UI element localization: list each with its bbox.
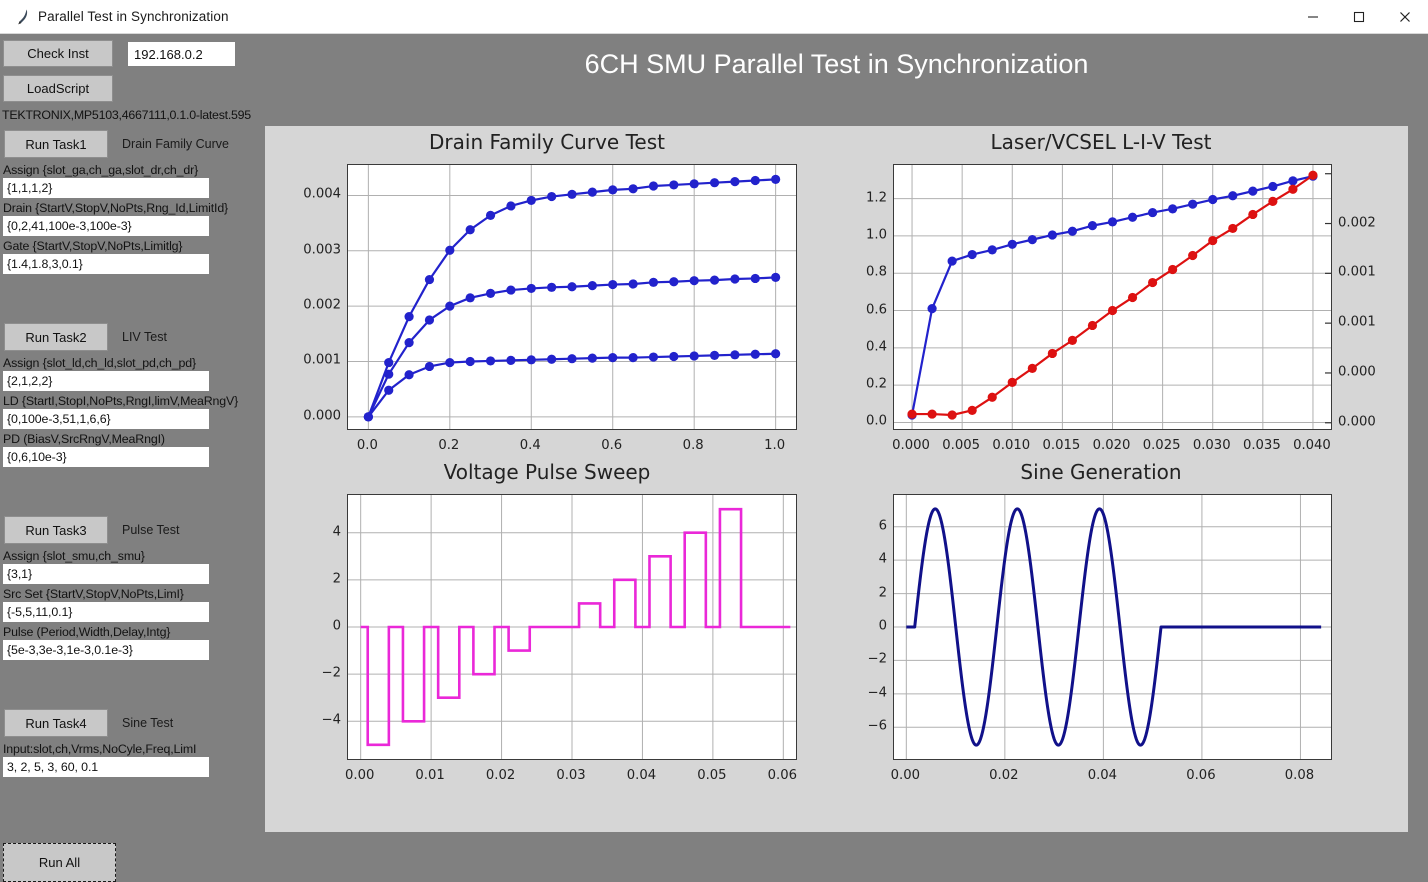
x-tick-label: 0.06 <box>768 768 797 783</box>
task3-assign-label: Assign {slot_smu,ch_smu} <box>0 549 265 564</box>
app-body: 6CH SMU Parallel Test in Synchronization… <box>0 34 1428 863</box>
y-tick-label: 0.6 <box>866 302 887 317</box>
task4-input-label: Input:slot,ch,Vrms,NoCyle,Freq,LimI <box>0 742 265 757</box>
x-tick-label: 0.04 <box>627 768 656 783</box>
ip-address-input[interactable]: 192.168.0.2 <box>128 42 235 66</box>
y-tick-label: 0 <box>879 619 887 634</box>
y-axis-ticks-sine: −6−4−20246 <box>840 494 887 760</box>
task1-assign-input[interactable]: {1,1,1,2} <box>3 178 209 198</box>
x-tick-label: 0.03 <box>556 768 585 783</box>
task-4-label: Sine Test <box>122 716 173 730</box>
y-tick-label-right: 0.000 <box>1338 364 1376 379</box>
x-tick-label: 0.000 <box>892 438 930 453</box>
y-axis-ticks-drain: 0.0000.0010.0020.0030.004 <box>277 164 341 430</box>
x-axis-ticks-liv: 0.0000.0050.0100.0150.0200.0250.0300.035… <box>893 436 1332 458</box>
run-task1-button[interactable]: Run Task1 <box>4 130 108 158</box>
x-tick-label: 0.4 <box>520 438 541 453</box>
task3-pulse-input[interactable]: {5e-3,3e-3,1e-3,0.1e-3} <box>3 640 209 660</box>
chart-title-liv: Laser/VCSEL L-I-V Test <box>802 130 1400 154</box>
task-2-label: LIV Test <box>122 330 167 344</box>
task2-pd-label: PD (BiasV,SrcRngV,MeaRngI) <box>0 432 265 447</box>
plot-panel: Drain Family Curve Test 0.0000.0010.0020… <box>265 126 1408 832</box>
run-task3-button[interactable]: Run Task3 <box>4 516 108 544</box>
y-tick-label: −2 <box>322 666 341 681</box>
feather-icon <box>8 8 36 26</box>
y-tick-label: 0.003 <box>303 242 341 257</box>
y-tick-label: −6 <box>868 719 887 734</box>
x-tick-label: 0.00 <box>345 768 374 783</box>
chart-voltage-pulse-sweep: Voltage Pulse Sweep −4−2024 0.000.010.02… <box>277 456 817 816</box>
task-3-group: Run Task3 Pulse Test Assign {slot_smu,ch… <box>0 516 265 660</box>
y-tick-label: 0.000 <box>303 408 341 423</box>
chart-laser-vcsel-liv: Laser/VCSEL L-I-V Test 0.00.20.40.60.81.… <box>840 126 1400 478</box>
x-tick-label: 0.8 <box>683 438 704 453</box>
y-tick-label: 1.2 <box>866 190 887 205</box>
task-4-group: Run Task4 Sine Test Input:slot,ch,Vrms,N… <box>0 709 265 777</box>
task1-drain-input[interactable]: {0,2,41,100e-3,100e-3} <box>3 216 209 236</box>
plot-svg <box>894 165 1331 429</box>
y-tick-label: 0.8 <box>866 265 887 280</box>
y-axis-ticks-pulse: −4−2024 <box>277 494 341 760</box>
x-axis-ticks-drain: 0.00.20.40.60.81.0 <box>347 436 797 458</box>
y-axis-ticks-liv: 0.00.20.40.60.81.01.2 <box>840 164 887 430</box>
plot-svg <box>348 495 796 759</box>
run-task4-button[interactable]: Run Task4 <box>4 709 108 737</box>
x-tick-label: 0.00 <box>891 768 920 783</box>
y-tick-label: 4 <box>333 524 341 539</box>
x-tick-label: 0.020 <box>1093 438 1131 453</box>
x-tick-label: 0.015 <box>1042 438 1080 453</box>
chart-title-drain: Drain Family Curve Test <box>277 130 817 154</box>
task1-gate-label: Gate {StartV,StopV,NoPts,Limitlg} <box>0 239 265 254</box>
task-1-group: Run Task1 Drain Family Curve Assign {slo… <box>0 130 265 274</box>
window-controls <box>1290 0 1428 34</box>
plot-area-drain <box>347 164 797 430</box>
task1-assign-label: Assign {slot_ga,ch_ga,slot_dr,ch_dr} <box>0 163 265 178</box>
y-tick-label: 0.2 <box>866 377 887 392</box>
plot-area-liv <box>893 164 1332 430</box>
chart-title-pulse: Voltage Pulse Sweep <box>277 460 817 484</box>
check-inst-button[interactable]: Check Inst <box>3 40 113 67</box>
y-tick-label: 0.002 <box>303 298 341 313</box>
x-tick-label: 0.6 <box>601 438 622 453</box>
task3-pulse-label: Pulse (Period,Width,Delay,Intg} <box>0 625 265 640</box>
task2-assign-label: Assign {slot_ld,ch_ld,slot_pd,ch_pd} <box>0 356 265 371</box>
window-titlebar: Parallel Test in Synchronization <box>0 0 1428 34</box>
x-tick-label: 0.02 <box>989 768 1018 783</box>
page-title: 6CH SMU Parallel Test in Synchronization <box>265 49 1408 80</box>
plot-area-pulse <box>347 494 797 760</box>
y-tick-label: 6 <box>879 518 887 533</box>
chart-title-sine: Sine Generation <box>802 460 1400 484</box>
instrument-id-text: TEKTRONIX,MP5103,4667111,0.1.0-latest.59… <box>2 108 251 122</box>
task1-gate-input[interactable]: {1.4,1.8,3,0.1} <box>3 254 209 274</box>
task4-input-input[interactable]: 3, 2, 5, 3, 60, 0.1 <box>3 757 209 777</box>
close-button[interactable] <box>1382 0 1428 34</box>
y-tick-label: 2 <box>333 571 341 586</box>
y-tick-label-right: 0.000 <box>1338 414 1376 429</box>
x-tick-label: 0.030 <box>1193 438 1231 453</box>
sidebar: Check Inst 192.168.0.2 LoadScript TEKTRO… <box>0 34 265 863</box>
task1-drain-label: Drain {StartV,StopV,NoPts,Rng_Id,LimitId… <box>0 201 265 216</box>
task3-assign-input[interactable]: {3,1} <box>3 564 209 584</box>
task3-srcset-input[interactable]: {-5,5,11,0.1} <box>3 602 209 622</box>
y-tick-label: 1.0 <box>866 227 887 242</box>
plot-svg <box>894 495 1331 759</box>
x-tick-label: 0.0 <box>357 438 378 453</box>
plot-svg <box>348 165 796 429</box>
y-tick-label: 0.0 <box>866 414 887 429</box>
x-tick-label: 0.08 <box>1285 768 1314 783</box>
y-tick-label: −4 <box>868 685 887 700</box>
chart-sine-generation: Sine Generation −6−4−20246 0.000.020.040… <box>840 456 1400 816</box>
task3-srcset-label: Src Set {StartV,StopV,NoPts,LimI} <box>0 587 265 602</box>
x-tick-label: 0.01 <box>415 768 444 783</box>
x-tick-label: 0.06 <box>1186 768 1215 783</box>
y-tick-label-right: 0.002 <box>1338 215 1376 230</box>
task2-assign-input[interactable]: {2,1,2,2} <box>3 371 209 391</box>
x-axis-ticks-pulse: 0.000.010.020.030.040.050.06 <box>347 766 797 788</box>
task-3-label: Pulse Test <box>122 523 179 537</box>
maximize-button[interactable] <box>1336 0 1382 34</box>
load-script-button[interactable]: LoadScript <box>3 75 113 102</box>
x-tick-label: 0.040 <box>1293 438 1331 453</box>
x-axis-ticks-sine: 0.000.020.040.060.08 <box>893 766 1332 788</box>
x-tick-label: 0.05 <box>697 768 726 783</box>
minimize-button[interactable] <box>1290 0 1336 34</box>
y-tick-label-right: 0.001 <box>1338 265 1376 280</box>
y-tick-label: 4 <box>879 552 887 567</box>
task2-ld-label: LD {StartI,StopI,NoPts,RngI,limV,MeaRngV… <box>0 394 265 409</box>
x-tick-label: 1.0 <box>764 438 785 453</box>
x-tick-label: 0.025 <box>1143 438 1181 453</box>
run-task2-button[interactable]: Run Task2 <box>4 323 108 351</box>
y-tick-label: 0.4 <box>866 339 887 354</box>
y-tick-label: 0.004 <box>303 187 341 202</box>
x-tick-label: 0.02 <box>486 768 515 783</box>
x-tick-label: 0.2 <box>438 438 459 453</box>
chart-drain-family-curve: Drain Family Curve Test 0.0000.0010.0020… <box>277 126 817 478</box>
task-2-group: Run Task2 LIV Test Assign {slot_ld,ch_ld… <box>0 323 265 467</box>
x-tick-label: 0.04 <box>1088 768 1117 783</box>
task-1-label: Drain Family Curve <box>122 137 229 151</box>
window-title: Parallel Test in Synchronization <box>38 9 229 24</box>
y-tick-label: 0.001 <box>303 353 341 368</box>
y-axis-right-ticks-liv: 0.0000.0000.0010.0010.002 <box>1338 164 1398 430</box>
x-tick-label: 0.005 <box>942 438 980 453</box>
x-tick-label: 0.035 <box>1243 438 1281 453</box>
task2-pd-input[interactable]: {0,6,10e-3} <box>3 447 209 467</box>
y-tick-label: −2 <box>868 652 887 667</box>
y-tick-label: −4 <box>322 713 341 728</box>
y-tick-label: 2 <box>879 585 887 600</box>
plot-area-sine <box>893 494 1332 760</box>
x-tick-label: 0.010 <box>992 438 1030 453</box>
y-tick-label-right: 0.001 <box>1338 315 1376 330</box>
y-tick-label: 0 <box>333 619 341 634</box>
task2-ld-input[interactable]: {0,100e-3,51,1,6,6} <box>3 409 209 429</box>
